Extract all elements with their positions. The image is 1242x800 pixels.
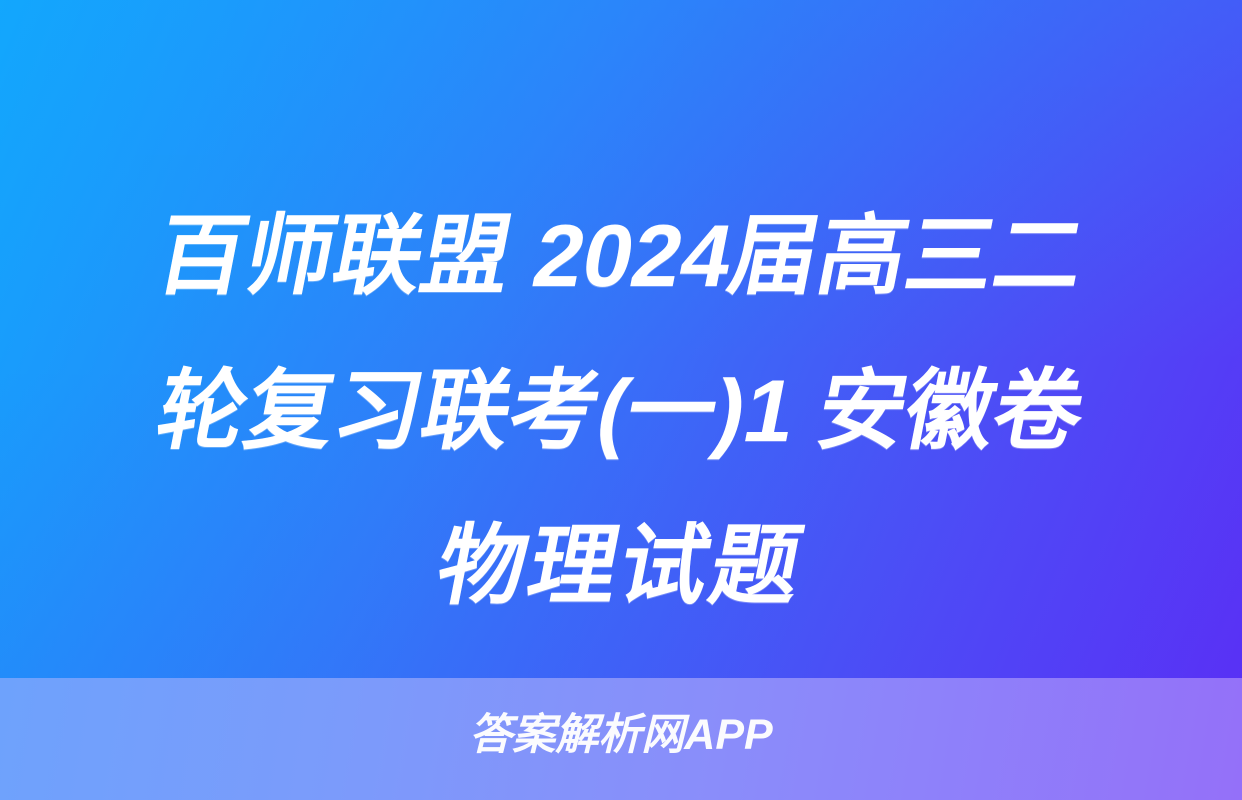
page-title: 百师联盟 2024届高三二 轮复习联考(一)1 安徽卷 物理试题 — [0, 178, 1242, 643]
brand-watermark: 答案解析网APP — [0, 708, 1242, 762]
title-line-2: 轮复习联考(一)1 安徽卷 — [37, 333, 1205, 488]
exam-cover-card: 百师联盟 2024届高三二 轮复习联考(一)1 安徽卷 物理试题 答案解析网AP… — [0, 0, 1242, 800]
title-line-3: 物理试题 — [37, 488, 1205, 643]
title-line-1: 百师联盟 2024届高三二 — [37, 178, 1205, 333]
brand-watermark-label: 答案解析网APP — [469, 708, 772, 762]
